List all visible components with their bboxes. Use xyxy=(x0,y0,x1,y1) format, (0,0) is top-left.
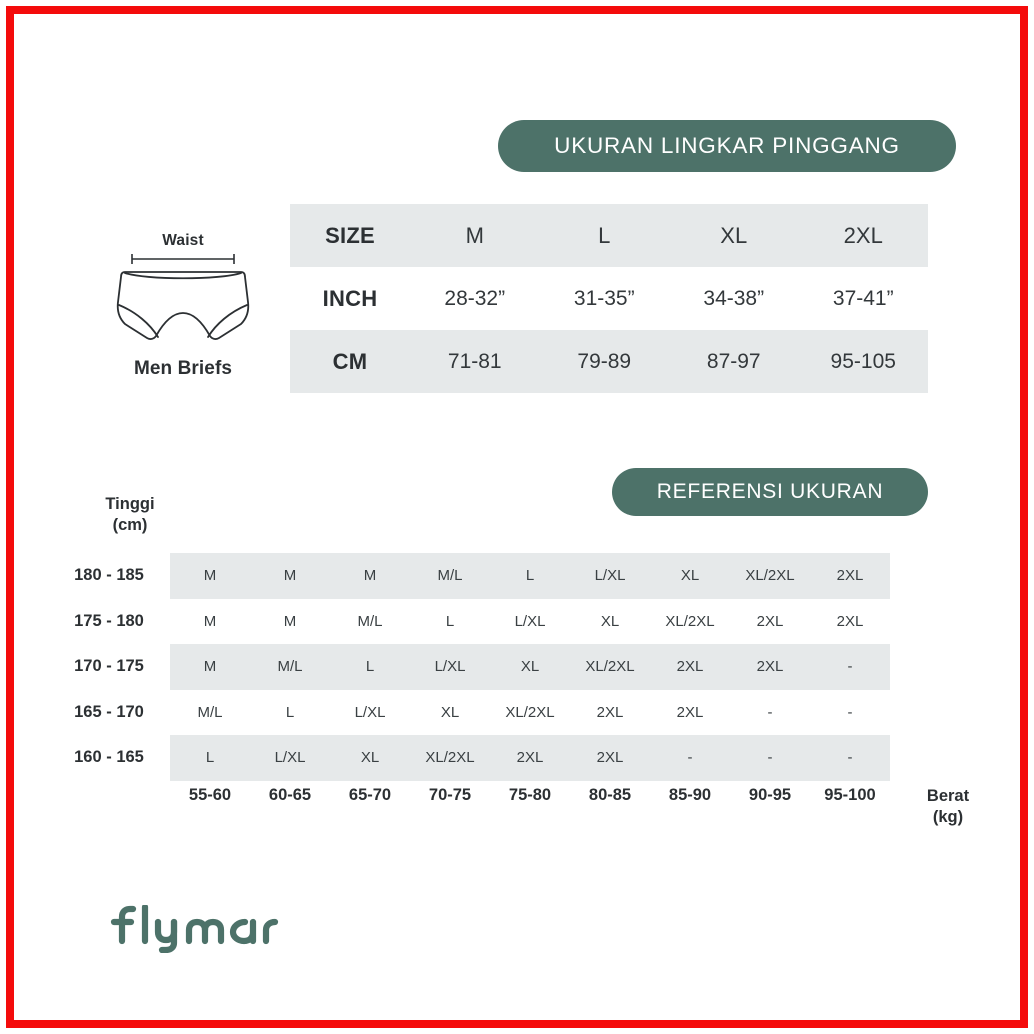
height-axis-label: Tinggi (cm) xyxy=(82,494,178,535)
reference-matrix-cell: XL xyxy=(410,690,490,736)
waist-table-cell: 71-81 xyxy=(410,330,540,393)
waist-table-cell: 31-35” xyxy=(540,267,670,330)
reference-matrix-cell: M xyxy=(250,599,330,645)
reference-matrix-body: 180 - 185MMMM/LLL/XLXLXL/2XL2XL175 - 180… xyxy=(60,553,890,781)
reference-row-label: 175 - 180 xyxy=(60,599,170,645)
reference-matrix-cell: XL xyxy=(650,553,730,599)
reference-matrix-cell: XL/2XL xyxy=(570,644,650,690)
reference-matrix-row: 165 - 170M/LLL/XLXLXL/2XL2XL2XL-- xyxy=(60,690,890,736)
waist-table-row: INCH28-32”31-35”34-38”37-41” xyxy=(290,267,928,330)
waist-table-row-header: CM xyxy=(290,330,410,393)
reference-matrix-cell: - xyxy=(730,735,810,781)
waist-table-row-header: SIZE xyxy=(290,204,410,267)
reference-matrix-cell: XL xyxy=(490,644,570,690)
reference-matrix-cell: - xyxy=(730,690,810,736)
reference-matrix-cell: L/XL xyxy=(330,690,410,736)
waist-table-cell: 95-105 xyxy=(799,330,929,393)
waist-table-cell: 79-89 xyxy=(540,330,670,393)
men-briefs-illustration xyxy=(88,268,278,344)
reference-matrix-cell: L/XL xyxy=(410,644,490,690)
weight-axis-tick: 85-90 xyxy=(650,786,730,805)
reference-matrix-cell: XL/2XL xyxy=(650,599,730,645)
reference-matrix-cell: XL/2XL xyxy=(490,690,570,736)
briefs-caption: Men Briefs xyxy=(88,358,278,380)
waist-table-cell: 87-97 xyxy=(669,330,799,393)
reference-matrix-cell: M/L xyxy=(330,599,410,645)
reference-matrix-cell: 2XL xyxy=(650,644,730,690)
size-chart-page: UKURAN LINGKAR PINGGANG Waist Men Briefs xyxy=(0,0,1034,1034)
reference-matrix-cell: 2XL xyxy=(490,735,570,781)
reference-matrix-cell: M xyxy=(170,599,250,645)
reference-matrix-cell: 2XL xyxy=(730,599,810,645)
reference-matrix-cell: XL xyxy=(570,599,650,645)
weight-axis-tick: 70-75 xyxy=(410,786,490,805)
weight-axis-tick: 95-100 xyxy=(810,786,890,805)
reference-matrix-row: 175 - 180MMM/LLL/XLXLXL/2XL2XL2XL xyxy=(60,599,890,645)
reference-matrix-cell: 2XL xyxy=(650,690,730,736)
reference-matrix-row: 160 - 165LL/XLXLXL/2XL2XL2XL--- xyxy=(60,735,890,781)
waist-table-row-header: INCH xyxy=(290,267,410,330)
reference-matrix-cell: L/XL xyxy=(250,735,330,781)
reference-matrix-cell: - xyxy=(810,735,890,781)
reference-matrix-table: 180 - 185MMMM/LLL/XLXLXL/2XL2XL175 - 180… xyxy=(60,553,890,781)
waist-measure-line xyxy=(130,252,236,264)
waist-table-cell: L xyxy=(540,204,670,267)
weight-axis-ticks: 55-6060-6565-7070-7575-8080-8585-9090-95… xyxy=(170,786,890,805)
waist-table-row: CM71-8179-8987-9795-105 xyxy=(290,330,928,393)
weight-axis-tick: 75-80 xyxy=(490,786,570,805)
weight-axis-tick: 55-60 xyxy=(170,786,250,805)
weight-axis-label: Berat (kg) xyxy=(898,786,998,827)
reference-matrix-cell: - xyxy=(810,644,890,690)
reference-row-label: 180 - 185 xyxy=(60,553,170,599)
reference-matrix-cell: 2XL xyxy=(810,553,890,599)
reference-matrix-cell: - xyxy=(650,735,730,781)
weight-axis-tick: 80-85 xyxy=(570,786,650,805)
reference-matrix-cell: 2XL xyxy=(730,644,810,690)
waist-measure-line-icon xyxy=(130,253,236,265)
waist-table-cell: 37-41” xyxy=(799,267,929,330)
reference-matrix-cell: M xyxy=(170,553,250,599)
briefs-icon xyxy=(88,268,278,344)
reference-matrix-cell: 2XL xyxy=(810,599,890,645)
brief-illustration-block: Waist Men Briefs xyxy=(88,232,278,380)
height-axis-label-line2: (cm) xyxy=(82,515,178,536)
reference-matrix-cell: 2XL xyxy=(570,735,650,781)
waist-size-table-body: SIZEMLXL2XLINCH28-32”31-35”34-38”37-41”C… xyxy=(290,204,928,393)
waist-table-row: SIZEMLXL2XL xyxy=(290,204,928,267)
reference-matrix-row: 180 - 185MMMM/LLL/XLXLXL/2XL2XL xyxy=(60,553,890,599)
weight-axis-tick: 90-95 xyxy=(730,786,810,805)
reference-row-label: 160 - 165 xyxy=(60,735,170,781)
reference-matrix-cell: L xyxy=(410,599,490,645)
reference-matrix-cell: M/L xyxy=(170,690,250,736)
waist-size-table: SIZEMLXL2XLINCH28-32”31-35”34-38”37-41”C… xyxy=(290,204,928,393)
reference-matrix-cell: L xyxy=(170,735,250,781)
waist-table-cell: M xyxy=(410,204,540,267)
waist-table-cell: 2XL xyxy=(799,204,929,267)
reference-matrix-cell: M xyxy=(170,644,250,690)
reference-matrix-cell: L xyxy=(490,553,570,599)
reference-matrix-cell: M/L xyxy=(250,644,330,690)
reference-matrix-cell: L/XL xyxy=(490,599,570,645)
reference-matrix-cell: L xyxy=(330,644,410,690)
weight-axis-label-line1: Berat xyxy=(898,786,998,807)
reference-matrix-row: 170 - 175MM/LLL/XLXLXL/2XL2XL2XL- xyxy=(60,644,890,690)
reference-row-label: 170 - 175 xyxy=(60,644,170,690)
reference-matrix-cell: M/L xyxy=(410,553,490,599)
weight-axis-label-line2: (kg) xyxy=(898,807,998,828)
reference-matrix-cell: 2XL xyxy=(570,690,650,736)
flyman-logo-icon xyxy=(100,905,280,953)
reference-matrix-cell: XL/2XL xyxy=(730,553,810,599)
waist-measure-label: Waist xyxy=(88,232,278,250)
height-axis-label-line1: Tinggi xyxy=(82,494,178,515)
reference-matrix-cell: M xyxy=(250,553,330,599)
waist-table-cell: 34-38” xyxy=(669,267,799,330)
reference-matrix-cell: L xyxy=(250,690,330,736)
reference-matrix-cell: M xyxy=(330,553,410,599)
reference-row-label: 165 - 170 xyxy=(60,690,170,736)
weight-axis-tick: 65-70 xyxy=(330,786,410,805)
waist-table-cell: 28-32” xyxy=(410,267,540,330)
badge-waist-circumference: UKURAN LINGKAR PINGGANG xyxy=(498,120,956,172)
reference-matrix-cell: XL xyxy=(330,735,410,781)
waist-table-cell: XL xyxy=(669,204,799,267)
reference-matrix-cell: L/XL xyxy=(570,553,650,599)
badge-size-reference: REFERENSI UKURAN xyxy=(612,468,928,516)
flyman-logo xyxy=(100,905,280,953)
weight-axis-tick: 60-65 xyxy=(250,786,330,805)
reference-matrix-cell: - xyxy=(810,690,890,736)
reference-matrix-cell: XL/2XL xyxy=(410,735,490,781)
